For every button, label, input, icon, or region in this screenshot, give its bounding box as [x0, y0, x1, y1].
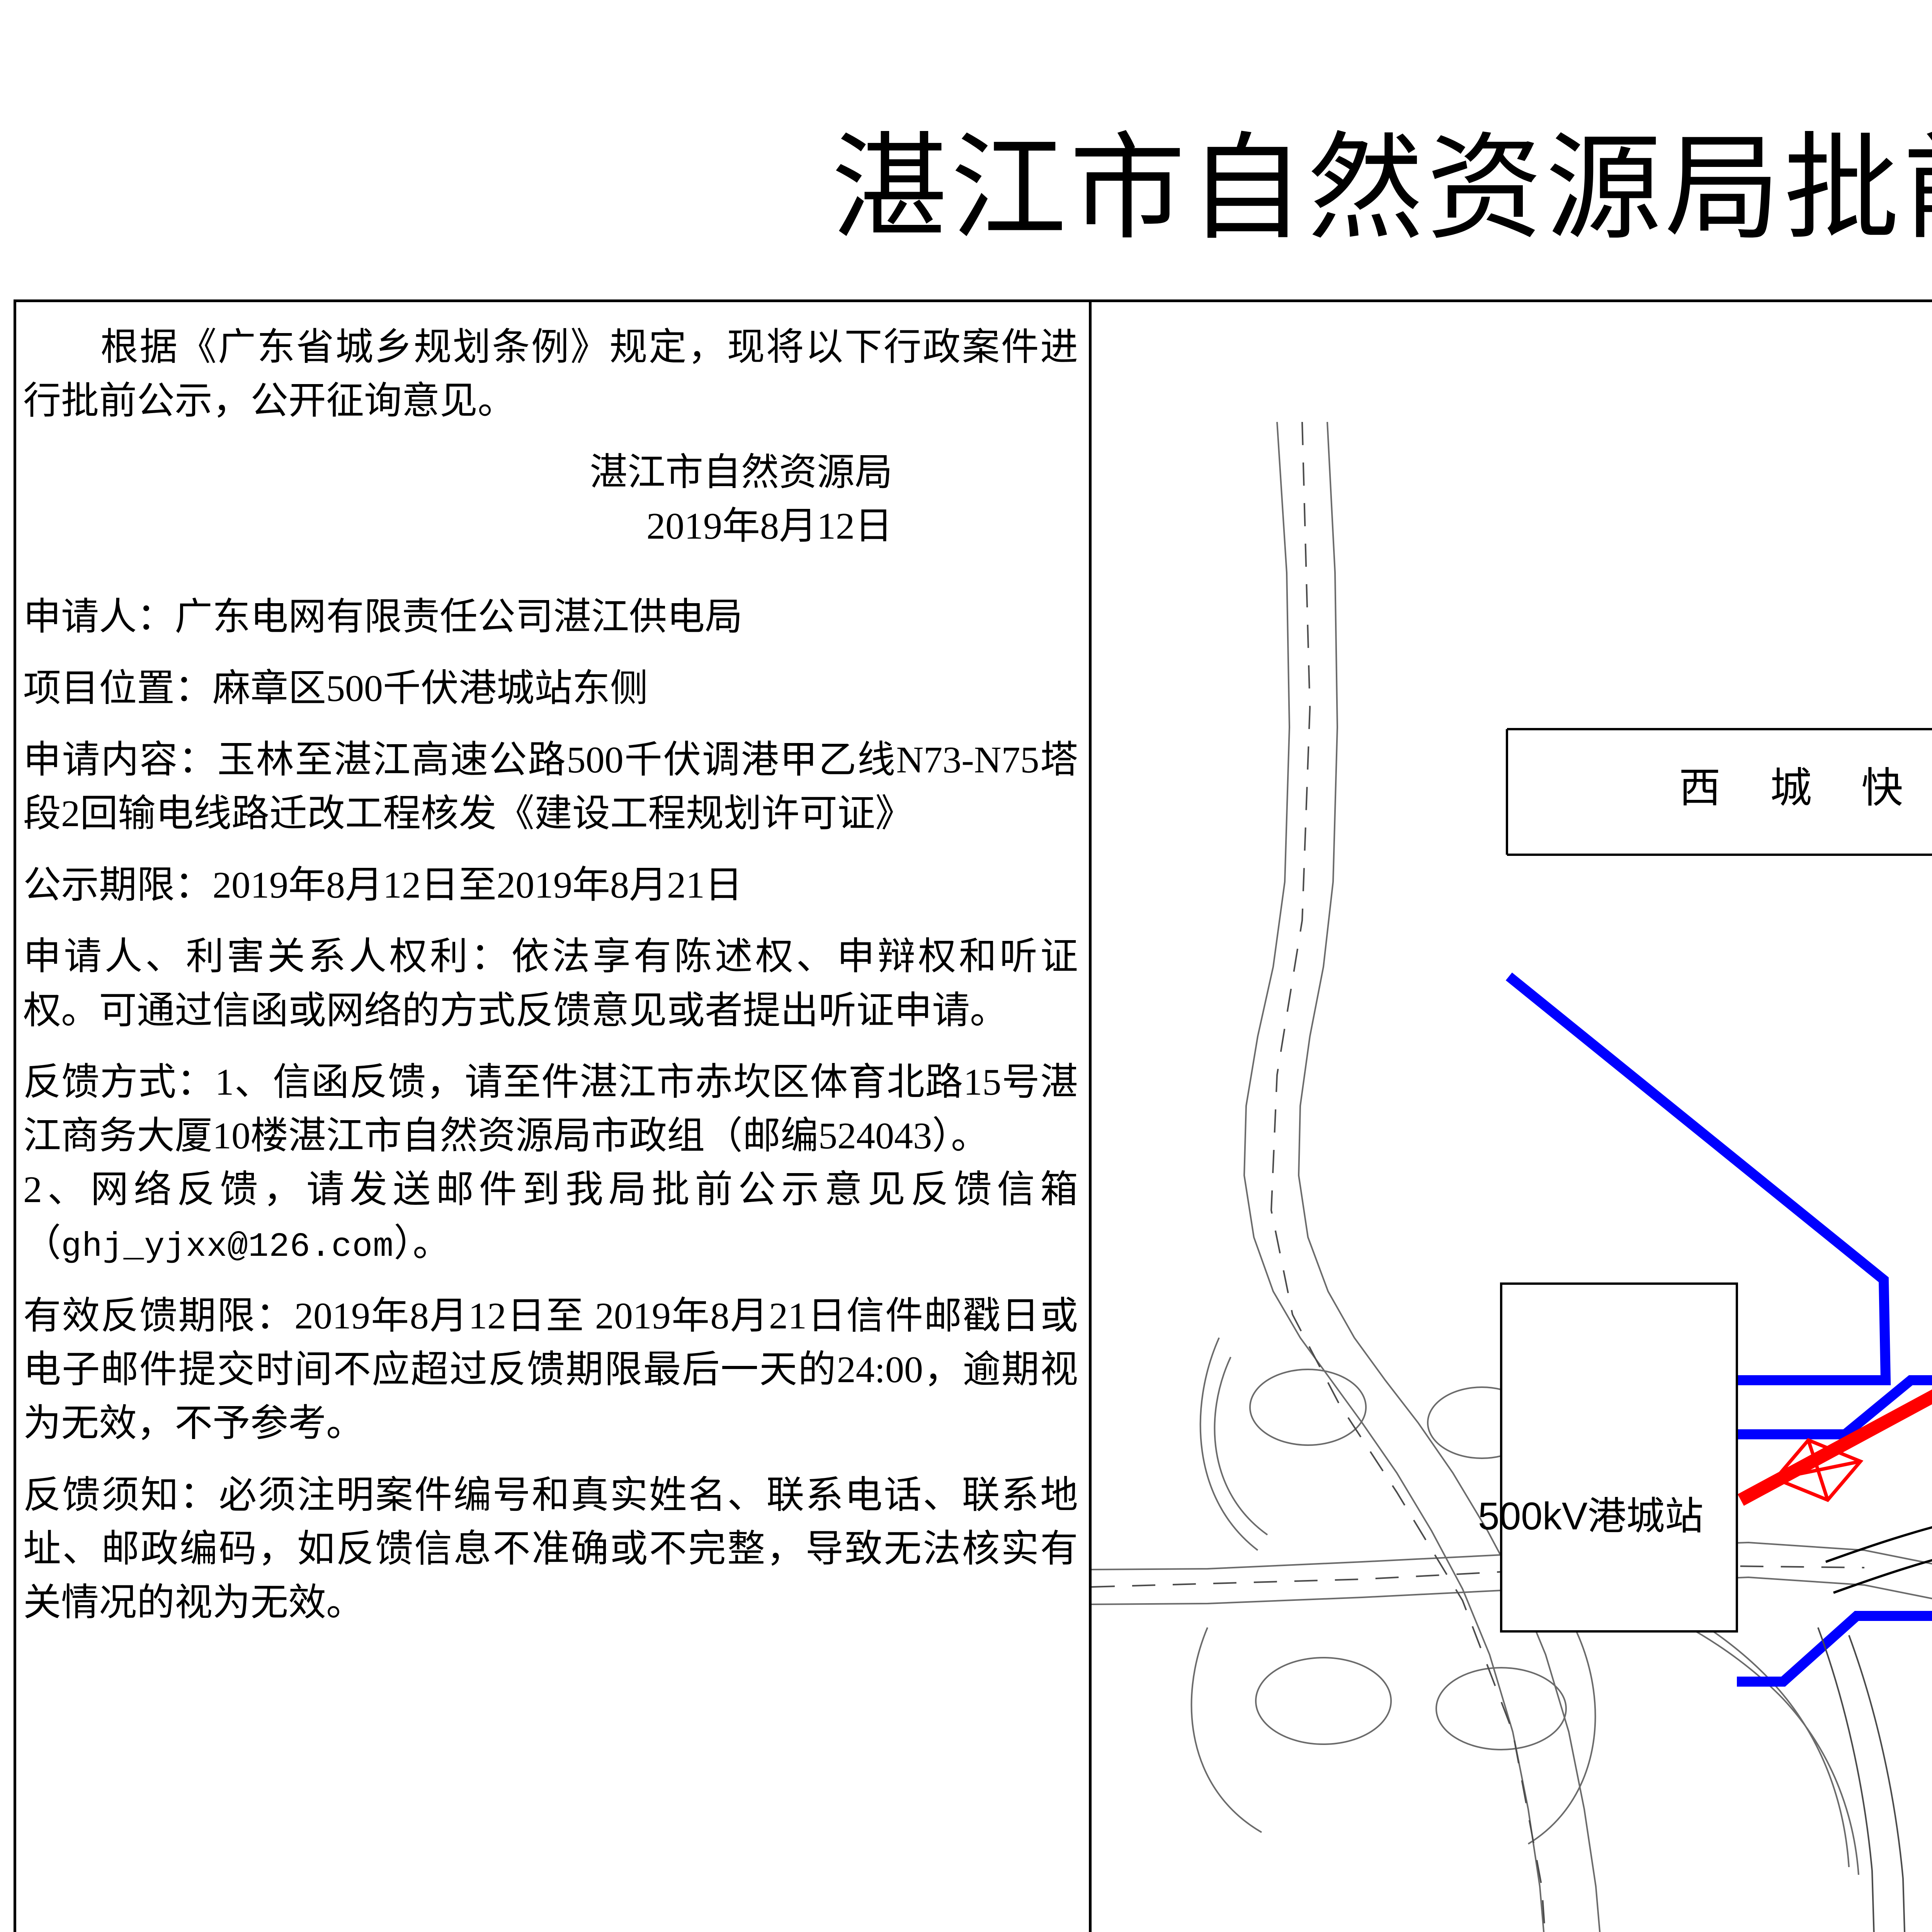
spacer [23, 1272, 1078, 1289]
notice-feedback-method-1: 反馈方式：1、信函反馈，请至件湛江市赤坎区体育北路15号湛江商务大厦10楼湛江市… [23, 1056, 1078, 1163]
spacer [23, 644, 1078, 662]
notice-intro: 根据《广东省城乡规划条例》规定，现将以下行政案件进行批前公示，公开征询意见。 [23, 321, 1078, 428]
feedback-email: ghj_yjxx@126.com [61, 1228, 394, 1266]
notice-issue-date: 2019年8月12日 [23, 500, 1078, 553]
spacer [23, 841, 1078, 859]
site-map: N 西 城 快 线 在建 玉湛高速 现 状 道 路 500kV港城站 图例： 拟… [1092, 302, 1932, 1932]
notice-valid-period: 有效反馈期限：2019年8月12日至 2019年8月21日信件邮戳日或电子邮件提… [23, 1289, 1078, 1451]
page-title: 湛江市自然资源局批前公示 [0, 93, 1932, 286]
map-drawing [1092, 302, 1932, 1932]
feedback-method-2-suffix: ）。 [394, 1223, 451, 1264]
notice-issuer: 湛江市自然资源局 [23, 446, 1078, 500]
notice-rights: 申请人、利害关系人权利：依法享有陈述权、申辩权和听证权。可通过信函或网络的方式反… [23, 930, 1078, 1037]
spacer [23, 1038, 1078, 1056]
map-label-substation: 500kV港城站 [1478, 1485, 1704, 1541]
notice-project-location: 项目位置：麻章区500千伏港城站东侧 [23, 662, 1078, 716]
publicity-notice-page: 湛江市自然资源局批前公示 根据《广东省城乡规划条例》规定，现将以下行政案件进行批… [0, 0, 1932, 1932]
spacer [23, 428, 1078, 446]
panel-divider [1089, 299, 1092, 1932]
spacer [23, 716, 1078, 733]
road-centerlines-dashed [1092, 422, 1864, 1932]
notice-application-content: 申请内容：玉林至湛江高速公路500千伏调港甲乙线N73-N75塔段2回输电线路迁… [23, 733, 1078, 841]
map-label-xicheng-expressway: 西 城 快 线 [1679, 754, 1932, 815]
existing-road-branches [1818, 1488, 1932, 1932]
spacer [23, 1451, 1078, 1469]
notice-applicant: 申请人：广东电网有限责任公司湛江供电局 [23, 590, 1078, 644]
notice-feedback-notice: 反馈须知：必须注明案件编号和真实姓名、联系电话、联系地址、邮政编码，如反馈信息不… [23, 1469, 1078, 1630]
notice-text-panel: 根据《广东省城乡规划条例》规定，现将以下行政案件进行批前公示，公开征询意见。 湛… [23, 321, 1078, 1932]
page-title-text: 湛江市自然资源局批前公示 [832, 131, 1932, 247]
notice-feedback-method-2: 2、网络反馈，请发送邮件到我局批前公示意见反馈信箱（ghj_yjxx@126.c… [23, 1163, 1078, 1272]
substation-footprint [1501, 1284, 1737, 1631]
road-network-faint [1092, 422, 1932, 1932]
spacer [23, 912, 1078, 930]
existing-road-east [1826, 1361, 1932, 1593]
notice-publicity-period: 公示期限：2019年8月12日至2019年8月21日 [23, 859, 1078, 912]
spacer [23, 554, 1078, 590]
